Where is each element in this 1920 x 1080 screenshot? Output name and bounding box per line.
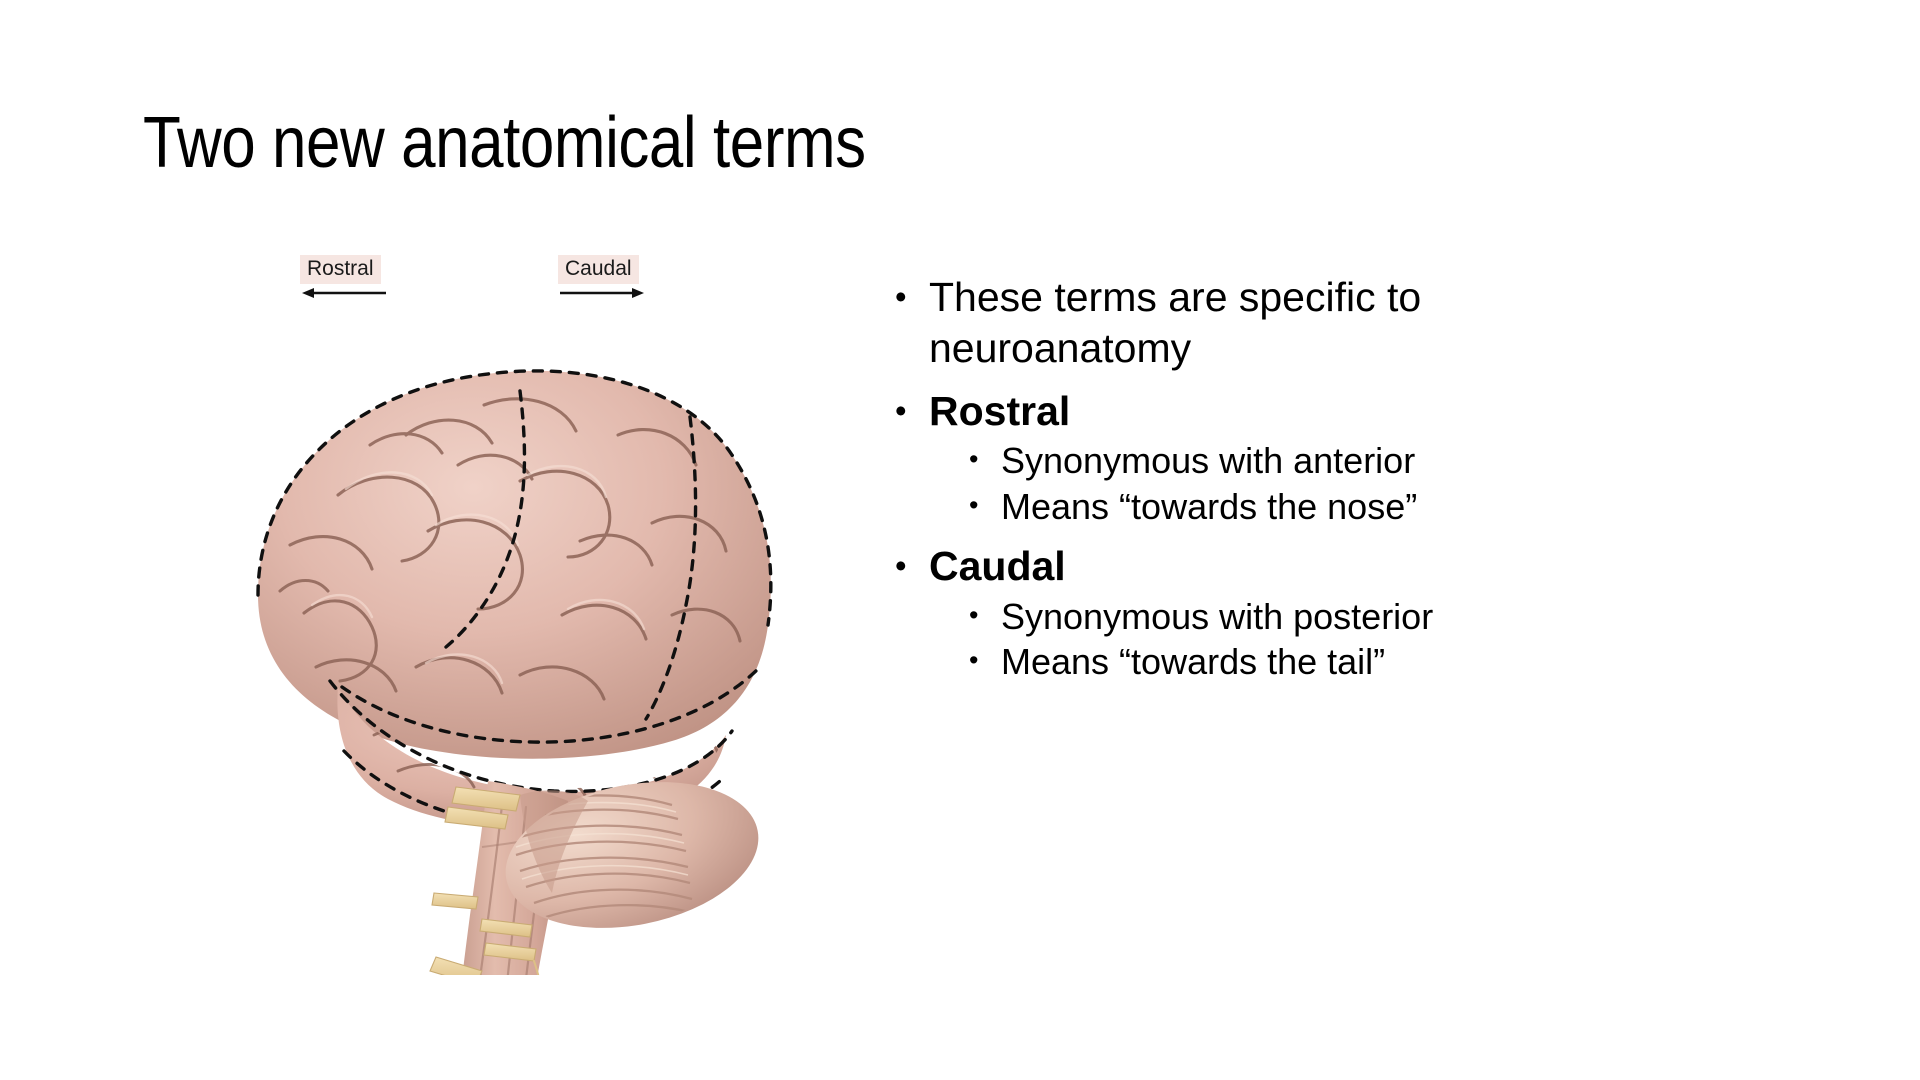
cerebrum [258,371,771,759]
bullet-marker-icon: • [969,594,1001,629]
bullet-item: •Synonymous with anterior [969,438,1595,483]
caudal-arrow-right-icon [558,286,646,300]
bullet-item: •Synonymous with posterior [969,594,1595,639]
bullet-item: •Rostral [895,386,1595,437]
bullet-item: •Caudal [895,541,1595,592]
bullet-marker-icon: • [969,639,1001,674]
brain-illustration [220,295,860,975]
bullet-text: Means “towards the tail” [1001,639,1595,684]
bullet-list: •These terms are specific to neuroanatom… [895,272,1595,685]
caudal-label: Caudal [558,255,639,284]
bullet-text: Caudal [929,541,1595,592]
bullet-text: Means “towards the nose” [1001,484,1595,529]
bullet-marker-icon: • [969,438,1001,473]
bullet-item: •Means “towards the tail” [969,639,1595,684]
bullet-text: Synonymous with anterior [1001,438,1595,483]
brain-figure: Rostral Caudal [220,295,860,975]
page-title: Two new anatomical terms [143,106,866,182]
bullet-text: Rostral [929,386,1595,437]
rostral-arrow-left-icon [300,286,388,300]
caudal-direction-label-group: Caudal [558,255,646,300]
bullet-marker-icon: • [895,386,929,427]
bullet-text: Synonymous with posterior [1001,594,1595,639]
bullet-marker-icon: • [895,272,929,313]
bullet-marker-icon: • [895,541,929,582]
bullet-item: •Means “towards the nose” [969,484,1595,529]
rostral-label: Rostral [300,255,381,284]
rostral-direction-label-group: Rostral [300,255,388,300]
bullet-item: •These terms are specific to neuroanatom… [895,272,1595,374]
bullet-marker-icon: • [969,484,1001,519]
bullet-text: These terms are specific to neuroanatomy [929,272,1595,374]
